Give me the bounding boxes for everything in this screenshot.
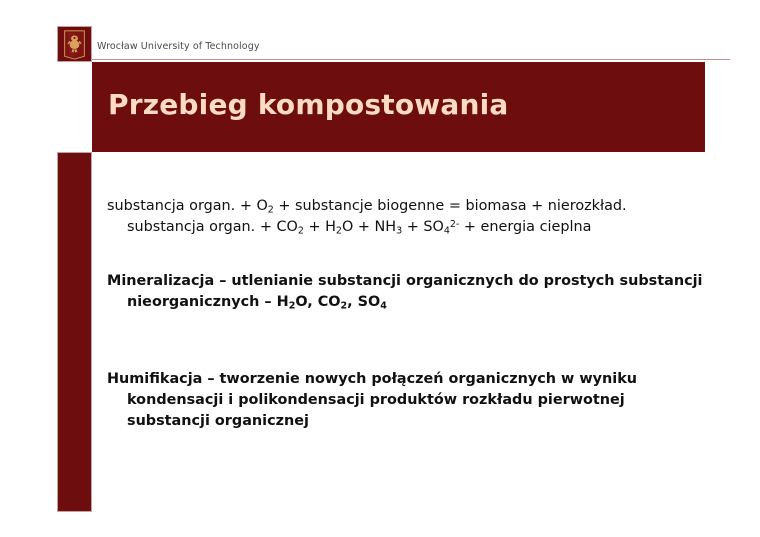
paragraph-humifikacja-block: Humifikacja – tworzenie nowych połączeń … — [107, 369, 707, 432]
slide-body: substancja organ. + O2 + substancje biog… — [107, 196, 707, 432]
paragraph-mineralizacja-block: Mineralizacja – utlenianie substancji or… — [107, 271, 707, 313]
left-accent-bar — [57, 152, 92, 512]
slide-canvas: Wrocław University of Technology Przebie… — [0, 0, 760, 537]
slide-title: Przebieg kompostowania — [108, 88, 508, 121]
header-divider — [92, 59, 730, 60]
paragraph-spacer — [107, 313, 707, 369]
paragraph-equation-block: substancja organ. + O2 + substancje biog… — [107, 196, 707, 238]
title-band: Przebieg kompostowania — [92, 62, 705, 152]
university-crest-icon — [57, 26, 92, 62]
paragraph-spacer — [107, 238, 707, 271]
organization-name: Wrocław University of Technology — [97, 41, 260, 53]
